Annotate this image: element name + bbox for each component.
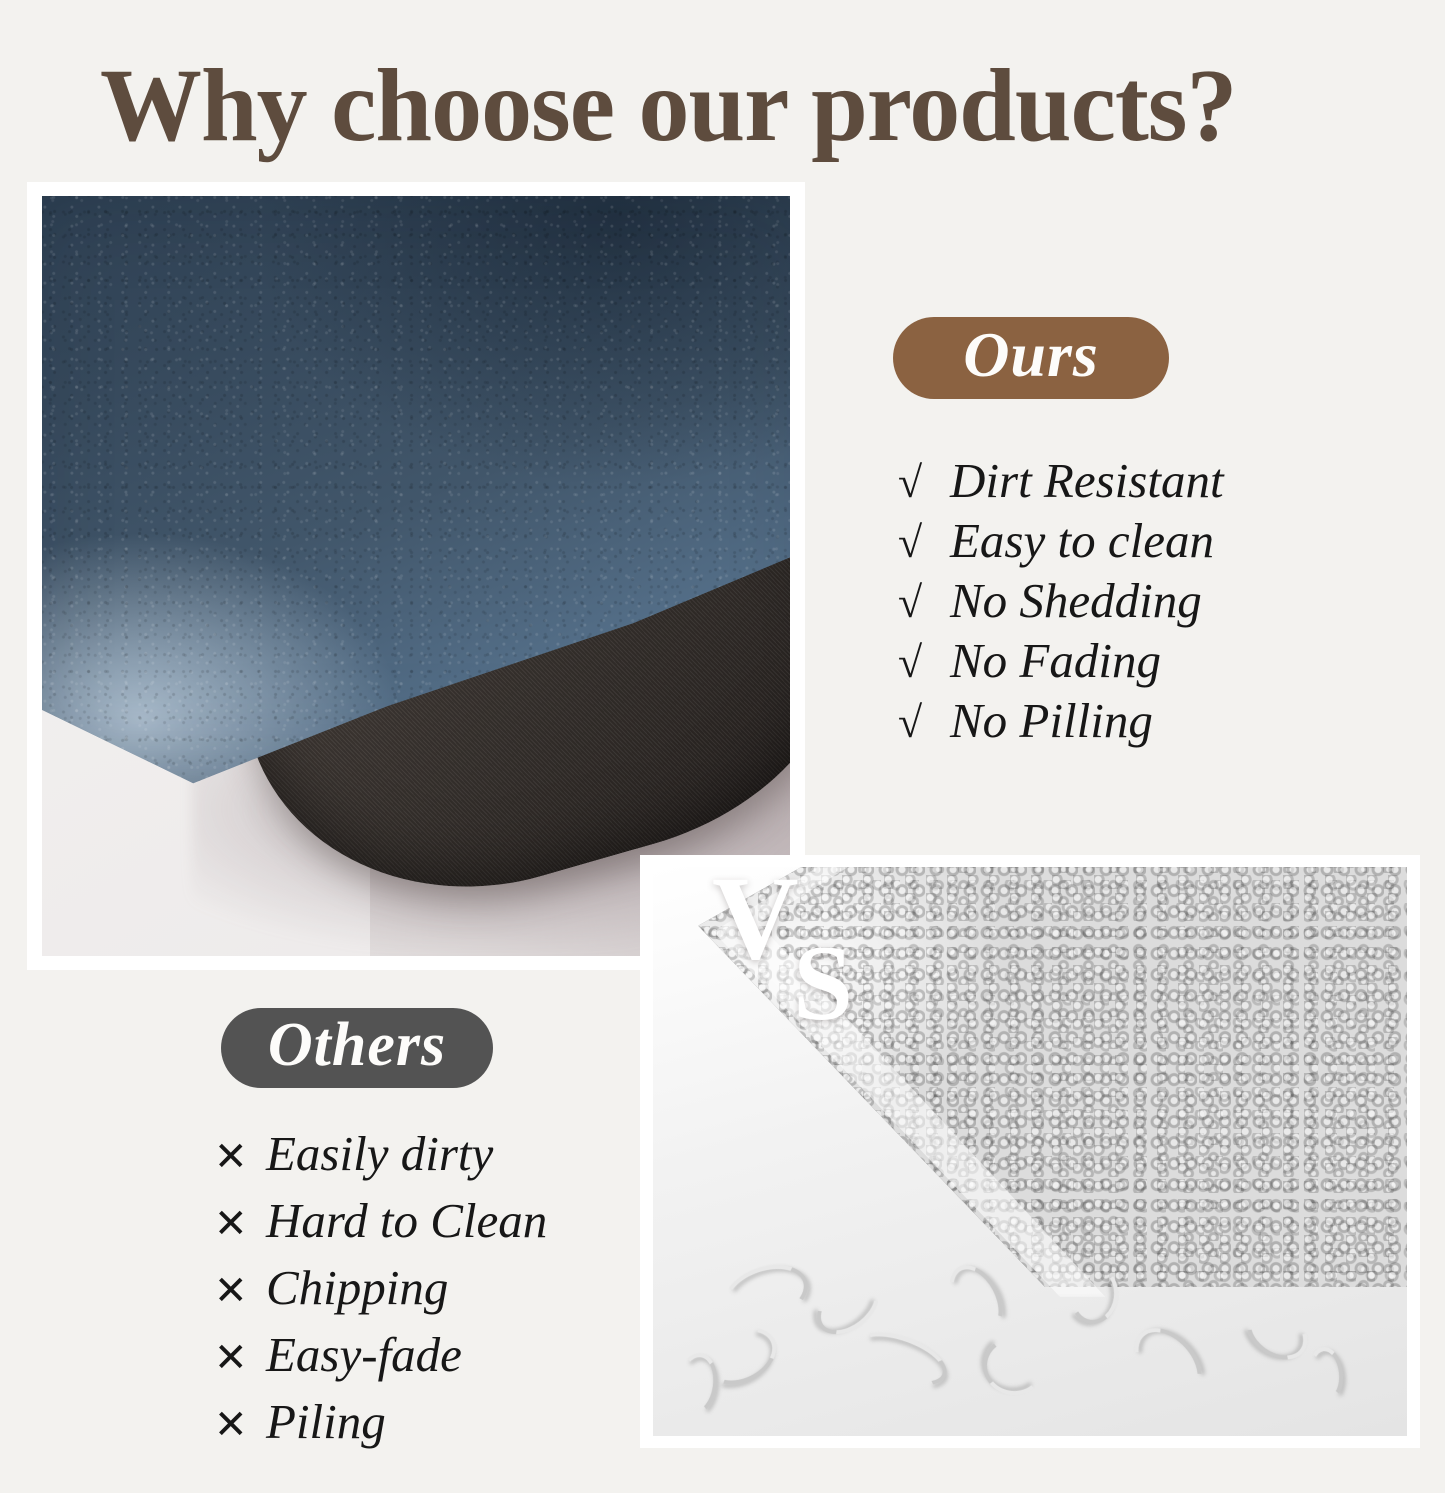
shed-fiber: [980, 1334, 1048, 1398]
ours-product-photo: [27, 182, 805, 970]
vs-letter-s: S: [793, 930, 853, 1038]
ours-feature-label: No Shedding: [950, 572, 1202, 630]
others-feature-label: Chipping: [266, 1256, 448, 1320]
others-feature-label: Piling: [266, 1390, 386, 1454]
comparison-infographic: Why choose our products? V: [0, 0, 1445, 1493]
page-title: Why choose our products?: [100, 50, 1354, 162]
ours-photo-inner: [42, 196, 790, 956]
others-badge: Others: [221, 1008, 493, 1088]
ours-feature-item: √ No Fading: [898, 632, 1224, 692]
check-icon: √: [898, 634, 950, 692]
ours-feature-label: Easy to clean: [950, 512, 1214, 570]
others-feature-label: Easy-fade: [266, 1323, 462, 1387]
others-feature-list: ✕ Easily dirty ✕ Hard to Clean ✕ Chippin…: [214, 1122, 547, 1457]
shed-fiber: [848, 1322, 953, 1396]
ours-feature-item: √ No Pilling: [898, 692, 1224, 752]
cross-icon: ✕: [214, 1192, 266, 1256]
shed-fiber: [1306, 1345, 1345, 1402]
others-feature-label: Hard to Clean: [266, 1189, 547, 1253]
others-feature-item: ✕ Easily dirty: [214, 1122, 547, 1189]
check-icon: √: [898, 454, 950, 512]
ours-feature-label: Dirt Resistant: [950, 452, 1224, 510]
shed-fiber: [1236, 1293, 1318, 1371]
check-icon: √: [898, 514, 950, 572]
check-icon: √: [898, 694, 950, 752]
cross-icon: ✕: [214, 1393, 266, 1457]
ours-feature-item: √ Dirt Resistant: [898, 452, 1224, 512]
shed-fiber: [1121, 1315, 1215, 1411]
vs-letter-v: V: [712, 858, 799, 978]
check-icon: √: [898, 574, 950, 632]
ours-feature-item: √ No Shedding: [898, 572, 1224, 632]
others-feature-item: ✕ Hard to Clean: [214, 1189, 547, 1256]
cross-icon: ✕: [214, 1259, 266, 1323]
cross-icon: ✕: [214, 1326, 266, 1390]
others-feature-item: ✕ Chipping: [214, 1256, 547, 1323]
cross-icon: ✕: [214, 1125, 266, 1189]
others-feature-label: Easily dirty: [266, 1122, 493, 1186]
shed-fiber: [939, 1256, 1013, 1341]
others-feature-item: ✕ Piling: [214, 1390, 547, 1457]
ours-feature-label: No Fading: [950, 632, 1161, 690]
ours-badge: Ours: [893, 317, 1169, 399]
others-feature-item: ✕ Easy-fade: [214, 1323, 547, 1390]
ours-feature-list: √ Dirt Resistant √ Easy to clean √ No Sh…: [898, 452, 1224, 752]
shed-fiber: [717, 1255, 815, 1333]
ours-feature-item: √ Easy to clean: [898, 512, 1224, 572]
ours-feature-label: No Pilling: [950, 692, 1153, 750]
